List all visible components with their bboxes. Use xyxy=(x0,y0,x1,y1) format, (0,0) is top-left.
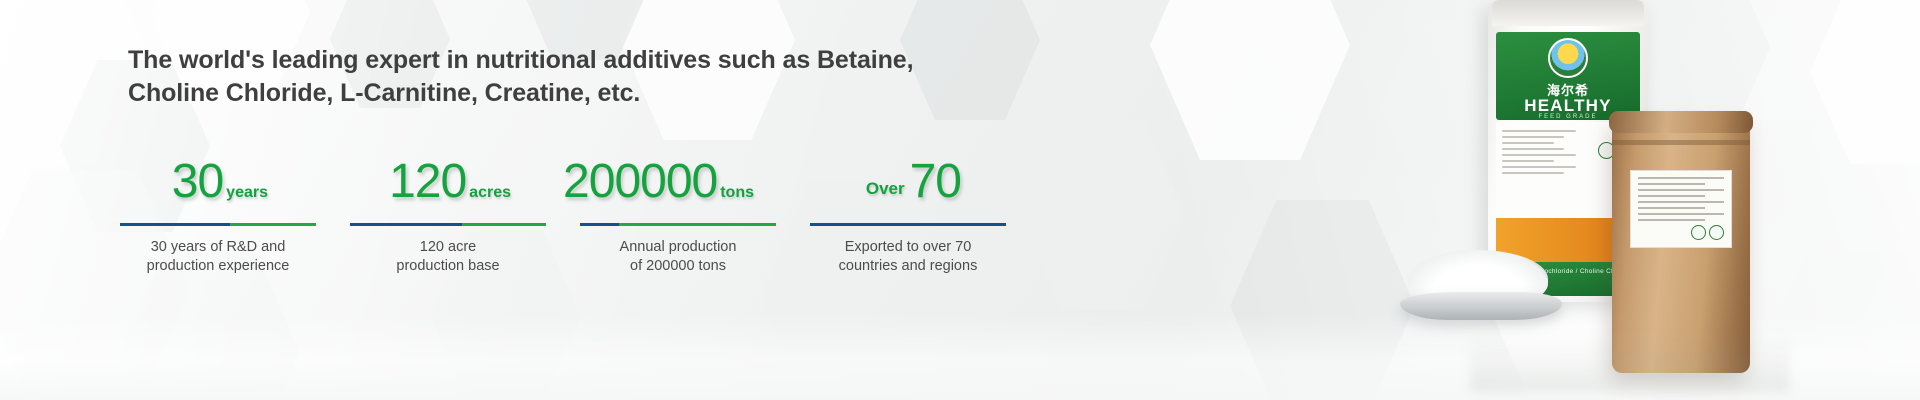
stat-number-row: 200000 tons xyxy=(580,158,776,214)
stat-item-countries: Over 70 Exported to over 70 countries an… xyxy=(810,158,1006,276)
promo-banner: The world's leading expert in nutritiona… xyxy=(0,0,1920,400)
stat-description: Exported to over 70 countries and region… xyxy=(810,238,1006,276)
stat-description: 120 acre production base xyxy=(350,238,546,276)
stats-row: 30 years 30 years of R&D and production … xyxy=(120,158,1006,276)
stat-desc-line-1: Exported to over 70 xyxy=(810,238,1006,257)
stat-number-row: Over 70 xyxy=(810,158,1006,214)
drum-label-lines xyxy=(1631,171,1731,231)
banner-headline: The world's leading expert in nutritiona… xyxy=(128,44,1028,111)
headline-line-2: Choline Chloride, L-Carnitine, Creatine,… xyxy=(128,77,1028,110)
stat-number: 200000 xyxy=(563,158,717,206)
stat-unit: tons xyxy=(720,184,754,202)
stat-desc-line-1: 30 years of R&D and xyxy=(120,238,316,257)
underline-blue-segment xyxy=(120,223,230,226)
underline-green-segment xyxy=(230,223,316,226)
certification-seal-icon xyxy=(1709,225,1724,240)
stat-number: 70 xyxy=(910,158,961,206)
underline-blue-segment xyxy=(810,223,1006,226)
stat-number: 30 xyxy=(172,158,223,206)
drum-label xyxy=(1630,170,1732,248)
stat-item-years: 30 years 30 years of R&D and production … xyxy=(120,158,316,276)
certification-seal-icon xyxy=(1691,225,1706,240)
stat-underline xyxy=(120,223,316,226)
stat-item-tons: 200000 tons Annual production of 200000 … xyxy=(580,158,776,276)
stat-desc-line-2: countries and regions xyxy=(810,257,1006,276)
headline-line-1: The world's leading expert in nutritiona… xyxy=(128,46,913,74)
stat-number-row: 30 years xyxy=(120,158,316,214)
bag-spec-lines xyxy=(1502,130,1576,178)
stat-desc-line-1: 120 acre xyxy=(350,238,546,257)
stat-description: Annual production of 200000 tons xyxy=(580,238,776,276)
stat-description: 30 years of R&D and production experienc… xyxy=(120,238,316,276)
drum-certification-seals xyxy=(1691,225,1724,240)
stat-underline xyxy=(350,223,546,226)
underline-green-segment xyxy=(619,223,776,226)
underline-blue-segment xyxy=(350,223,462,226)
stat-unit: years xyxy=(226,184,268,202)
stat-number: 120 xyxy=(389,158,466,206)
stat-underline xyxy=(580,223,776,226)
stat-number-row: 120 acres xyxy=(350,158,546,214)
stat-desc-line-1: Annual production xyxy=(580,238,776,257)
bag-top-seal xyxy=(1492,0,1644,26)
drum-band xyxy=(1612,140,1750,145)
brand-logo-icon xyxy=(1548,38,1588,78)
stat-item-acres: 120 acres 120 acre production base xyxy=(350,158,546,276)
stat-desc-line-2: production experience xyxy=(120,257,316,276)
drum-lid xyxy=(1609,111,1753,133)
underline-green-segment xyxy=(462,223,546,226)
stat-desc-line-2: of 200000 tons xyxy=(580,257,776,276)
bag-green-panel: 海尔希 HEALTHY FEED GRADE xyxy=(1496,32,1640,120)
metal-spoon xyxy=(1400,292,1562,320)
stat-unit: acres xyxy=(469,184,511,202)
underline-blue-segment xyxy=(580,223,619,226)
product-reflection xyxy=(1470,330,1790,392)
stat-underline xyxy=(810,223,1006,226)
stat-prefix: Over xyxy=(866,179,905,199)
stat-desc-line-2: production base xyxy=(350,257,546,276)
product-image-group: 海尔希 HEALTHY FEED GRADE Betaine Hydrochlo… xyxy=(1400,0,1920,400)
